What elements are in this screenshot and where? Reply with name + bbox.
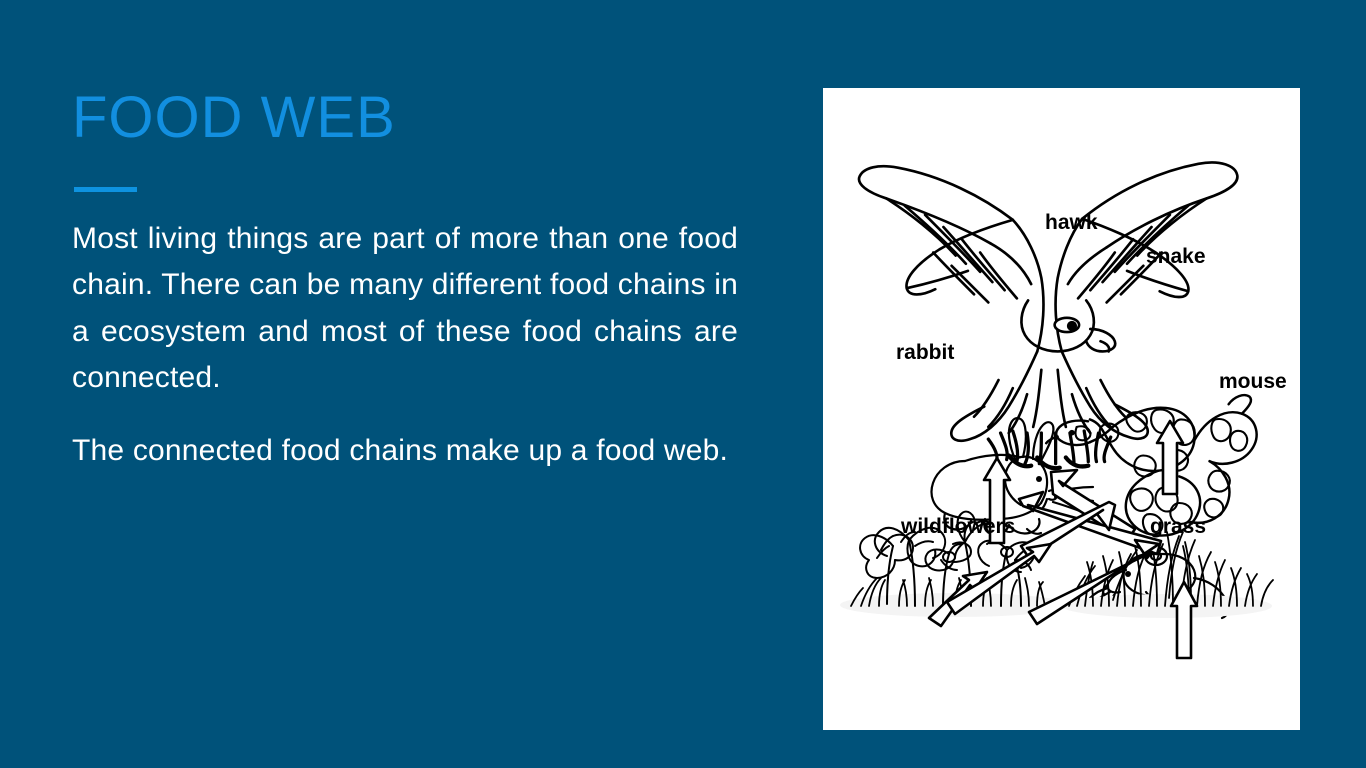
body-text-block: Most living things are part of more than… (72, 216, 738, 475)
food-web-diagram: hawk snake rabbit mouse wildflowers gras… (823, 88, 1300, 730)
body-paragraph-1: Most living things are part of more than… (72, 216, 738, 402)
body-paragraph-2: The connected food chains make up a food… (72, 428, 738, 475)
text-column: FOOD WEB Most living things are part of … (72, 88, 738, 500)
food-web-image-panel: hawk snake rabbit mouse wildflowers gras… (823, 88, 1300, 730)
slide-root: FOOD WEB Most living things are part of … (0, 0, 1366, 768)
title-underline-accent (74, 187, 137, 192)
label-rabbit: rabbit (896, 341, 954, 364)
label-wildflowers: wildflowers (900, 515, 1015, 538)
label-mouse: mouse (1219, 370, 1287, 393)
label-grass: grass (1150, 515, 1206, 538)
label-snake: snake (1146, 245, 1206, 268)
page-title: FOOD WEB (72, 88, 738, 149)
label-hawk: hawk (1045, 211, 1098, 234)
